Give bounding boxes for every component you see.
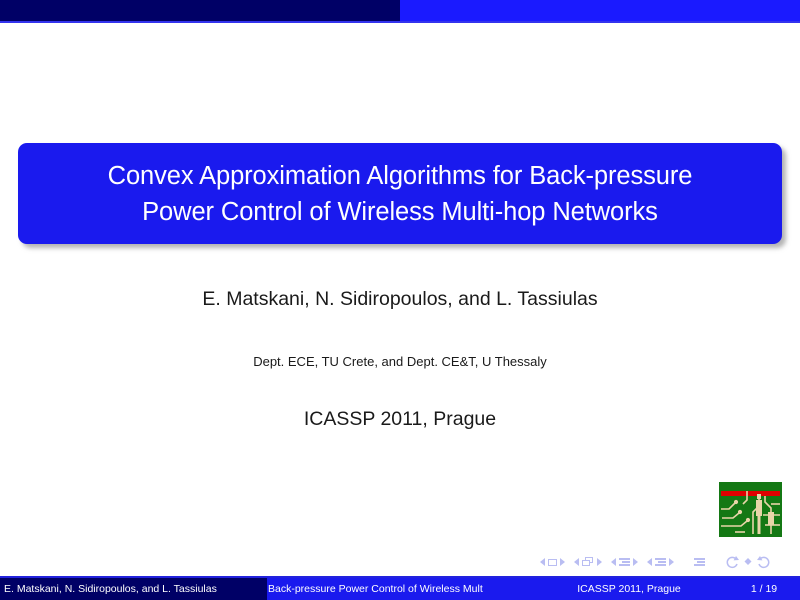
circuit-board-logo: [719, 482, 782, 537]
slide-square-icon[interactable]: [548, 559, 557, 566]
page-title: Convex Approximation Algorithms for Back…: [98, 158, 703, 230]
affiliation-line: Dept. ECE, TU Crete, and Dept. CE&T, U T…: [0, 354, 800, 369]
next-slide-icon[interactable]: [560, 558, 565, 566]
frame-stack-icon[interactable]: [582, 557, 594, 567]
next-frame-icon[interactable]: [597, 558, 602, 566]
section-lines-icon[interactable]: [655, 558, 666, 566]
header-bar-left-segment: [0, 0, 400, 21]
footer-page-number: 1 / 19: [728, 578, 800, 600]
previous-frame-icon[interactable]: [574, 558, 579, 566]
nav-frame-group[interactable]: [574, 557, 602, 567]
footer-title: Back-pressure Power Control of Wireless …: [267, 578, 530, 600]
nav-presentation-group[interactable]: [694, 558, 705, 566]
nav-history-group[interactable]: [725, 555, 771, 569]
author-list: E. Matskani, N. Sidiropoulos, and L. Tas…: [0, 288, 800, 311]
nav-slide-group[interactable]: [540, 558, 565, 566]
next-subsection-icon[interactable]: [633, 558, 638, 566]
previous-section-icon[interactable]: [647, 558, 652, 566]
circular-arrows-icon[interactable]: [725, 555, 771, 569]
document-lines-icon[interactable]: [694, 558, 705, 566]
venue-line: ICASSP 2011, Prague: [0, 408, 800, 431]
footer-venue: ICASSP 2011, Prague: [530, 578, 728, 600]
next-section-icon[interactable]: [669, 558, 674, 566]
header-bar: [0, 0, 800, 21]
header-bar-right-segment: [400, 0, 800, 21]
beamer-navigation-symbols[interactable]: [0, 553, 800, 571]
previous-slide-icon[interactable]: [540, 558, 545, 566]
header-bar-underline: [0, 21, 800, 23]
footer-author: E. Matskani, N. Sidiropoulos, and L. Tas…: [0, 578, 267, 600]
footer-bar: E. Matskani, N. Sidiropoulos, and L. Tas…: [0, 578, 800, 600]
title-box: Convex Approximation Algorithms for Back…: [18, 143, 782, 244]
previous-subsection-icon[interactable]: [611, 558, 616, 566]
subsection-lines-icon[interactable]: [619, 558, 630, 566]
nav-section-group[interactable]: [647, 558, 674, 566]
nav-subsection-group[interactable]: [611, 558, 638, 566]
title-block: Convex Approximation Algorithms for Back…: [18, 143, 782, 244]
